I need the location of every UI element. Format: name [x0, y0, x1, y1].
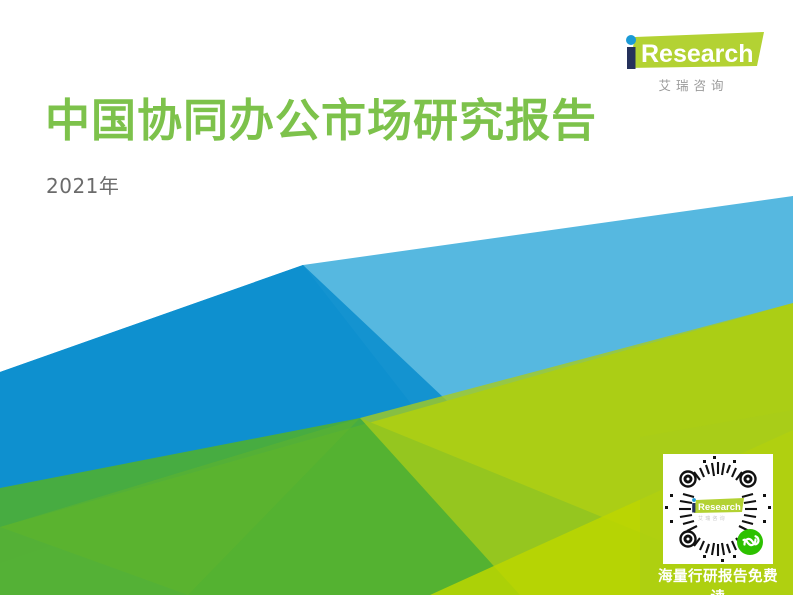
qr-promo-block[interactable]: Research 艾瑞咨询 海量行研报告免费读 — [654, 447, 782, 587]
svg-text:艾瑞咨询: 艾瑞咨询 — [698, 515, 727, 522]
svg-text:Research: Research — [698, 502, 741, 513]
page-title: 中国协同办公市场研究报告 — [45, 96, 597, 146]
page-year-label: 2021年 — [46, 170, 119, 199]
logo-subtitle: 艾瑞咨询 — [617, 75, 765, 94]
logo-mark: Research — [617, 30, 765, 72]
logo-i-dot-icon — [626, 35, 636, 45]
logo-i-stem — [627, 47, 636, 69]
qr-code-card[interactable]: Research 艾瑞咨询 — [663, 454, 773, 564]
qr-promo-caption: 海量行研报告免费读 — [654, 565, 782, 595]
logo-wordmark: Research — [641, 40, 754, 68]
wechat-miniprogram-badge-icon — [737, 529, 763, 555]
wechat-miniprogram-qr-icon[interactable]: Research 艾瑞咨询 — [663, 454, 773, 564]
report-cover-page: Research 艾瑞咨询 中国协同办公市场研究报告 2021年 — [0, 0, 793, 595]
iresearch-logo: Research 艾瑞咨询 — [617, 30, 765, 94]
logo-mark-icon: Research — [617, 30, 765, 72]
